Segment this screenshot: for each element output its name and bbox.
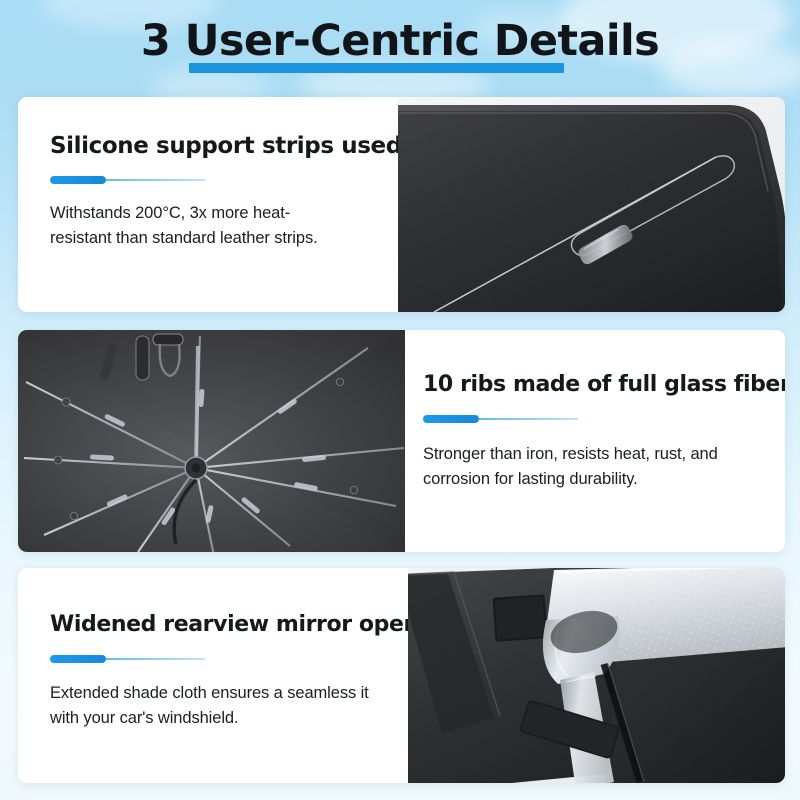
page-title-text: 3 User-Centric Details (141, 16, 659, 66)
feature-card-2: 10 ribs made of full glass fiber Stronge… (18, 330, 785, 552)
feature-card-2-image-pane (18, 330, 405, 552)
feature-card-1: Silicone support strips used Withstands … (18, 97, 785, 312)
page-title-container: 3 User-Centric Details (0, 16, 800, 67)
feature-card-1-text-pane: Silicone support strips used Withstands … (18, 97, 398, 312)
feature-card-1-heading: Silicone support strips used (50, 133, 402, 159)
feature-card-2-heading: 10 ribs made of full glass fiber (423, 372, 785, 397)
page-title: 3 User-Centric Details (141, 16, 659, 67)
feature-card-1-image-pane (398, 97, 785, 312)
feature-card-2-accent-bar (423, 415, 578, 423)
glass-fiber-ribs-photo (18, 330, 405, 552)
feature-card-3-text-pane: Widened rearview mirror opening Extended… (18, 568, 408, 783)
feature-card-3-accent-bar (50, 655, 205, 663)
silicone-strip-photo (398, 97, 785, 312)
rearview-mirror-opening-photo (408, 568, 785, 783)
feature-card-3-image-pane (408, 568, 785, 783)
feature-card-3: Widened rearview mirror opening Extended… (18, 568, 785, 783)
feature-card-2-text-pane: 10 ribs made of full glass fiber Stronge… (405, 330, 785, 552)
title-underline (189, 63, 564, 73)
feature-card-1-accent-bar (50, 176, 205, 184)
feature-card-3-heading: Widened rearview mirror opening (50, 612, 457, 637)
feature-card-3-body: Extended shade cloth ensures a seamless … (50, 681, 380, 731)
feature-card-2-body: Stronger than iron, resists heat, rust, … (423, 442, 763, 492)
infographic-page: 3 User-Centric Details Silicone support … (0, 0, 800, 800)
feature-card-1-body: Withstands 200°C, 3x more heat-resistant… (50, 201, 350, 251)
